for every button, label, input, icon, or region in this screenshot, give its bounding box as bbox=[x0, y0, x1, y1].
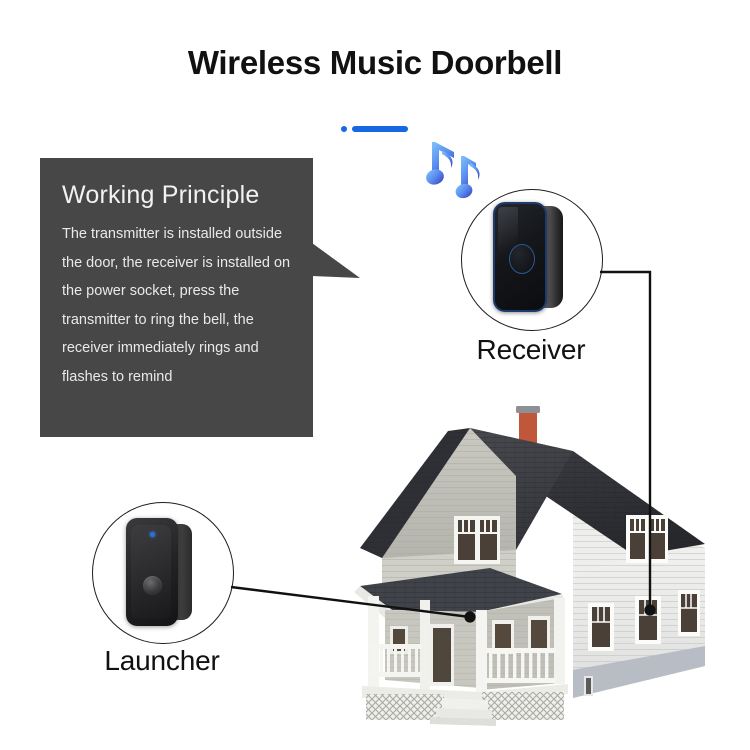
working-principle-callout: Working Principle The transmitter is ins… bbox=[40, 158, 313, 437]
receiver-button bbox=[509, 244, 535, 274]
callout-tail-pointer bbox=[312, 243, 360, 283]
signal-bar bbox=[352, 126, 408, 132]
callout-body: The transmitter is installed outside the… bbox=[62, 220, 291, 391]
launcher-led-indicator bbox=[150, 532, 155, 537]
launcher-button bbox=[143, 576, 162, 595]
launcher-device-image bbox=[122, 518, 204, 628]
infographic-canvas: Wireless Music Doorbell bbox=[0, 0, 750, 750]
receiver-label: Receiver bbox=[441, 334, 621, 366]
music-notes-icon bbox=[424, 138, 496, 202]
page-title: Wireless Music Doorbell bbox=[0, 44, 750, 82]
signal-dot bbox=[341, 126, 347, 132]
house-illustration bbox=[330, 398, 750, 728]
callout-heading: Working Principle bbox=[62, 181, 291, 210]
launcher-label: Launcher bbox=[72, 645, 252, 677]
signal-dash-icon bbox=[341, 124, 411, 134]
launcher-face-panel bbox=[131, 525, 171, 619]
receiver-device-image bbox=[487, 202, 571, 314]
launcher-body bbox=[126, 518, 178, 626]
receiver-front-panel bbox=[493, 202, 547, 312]
